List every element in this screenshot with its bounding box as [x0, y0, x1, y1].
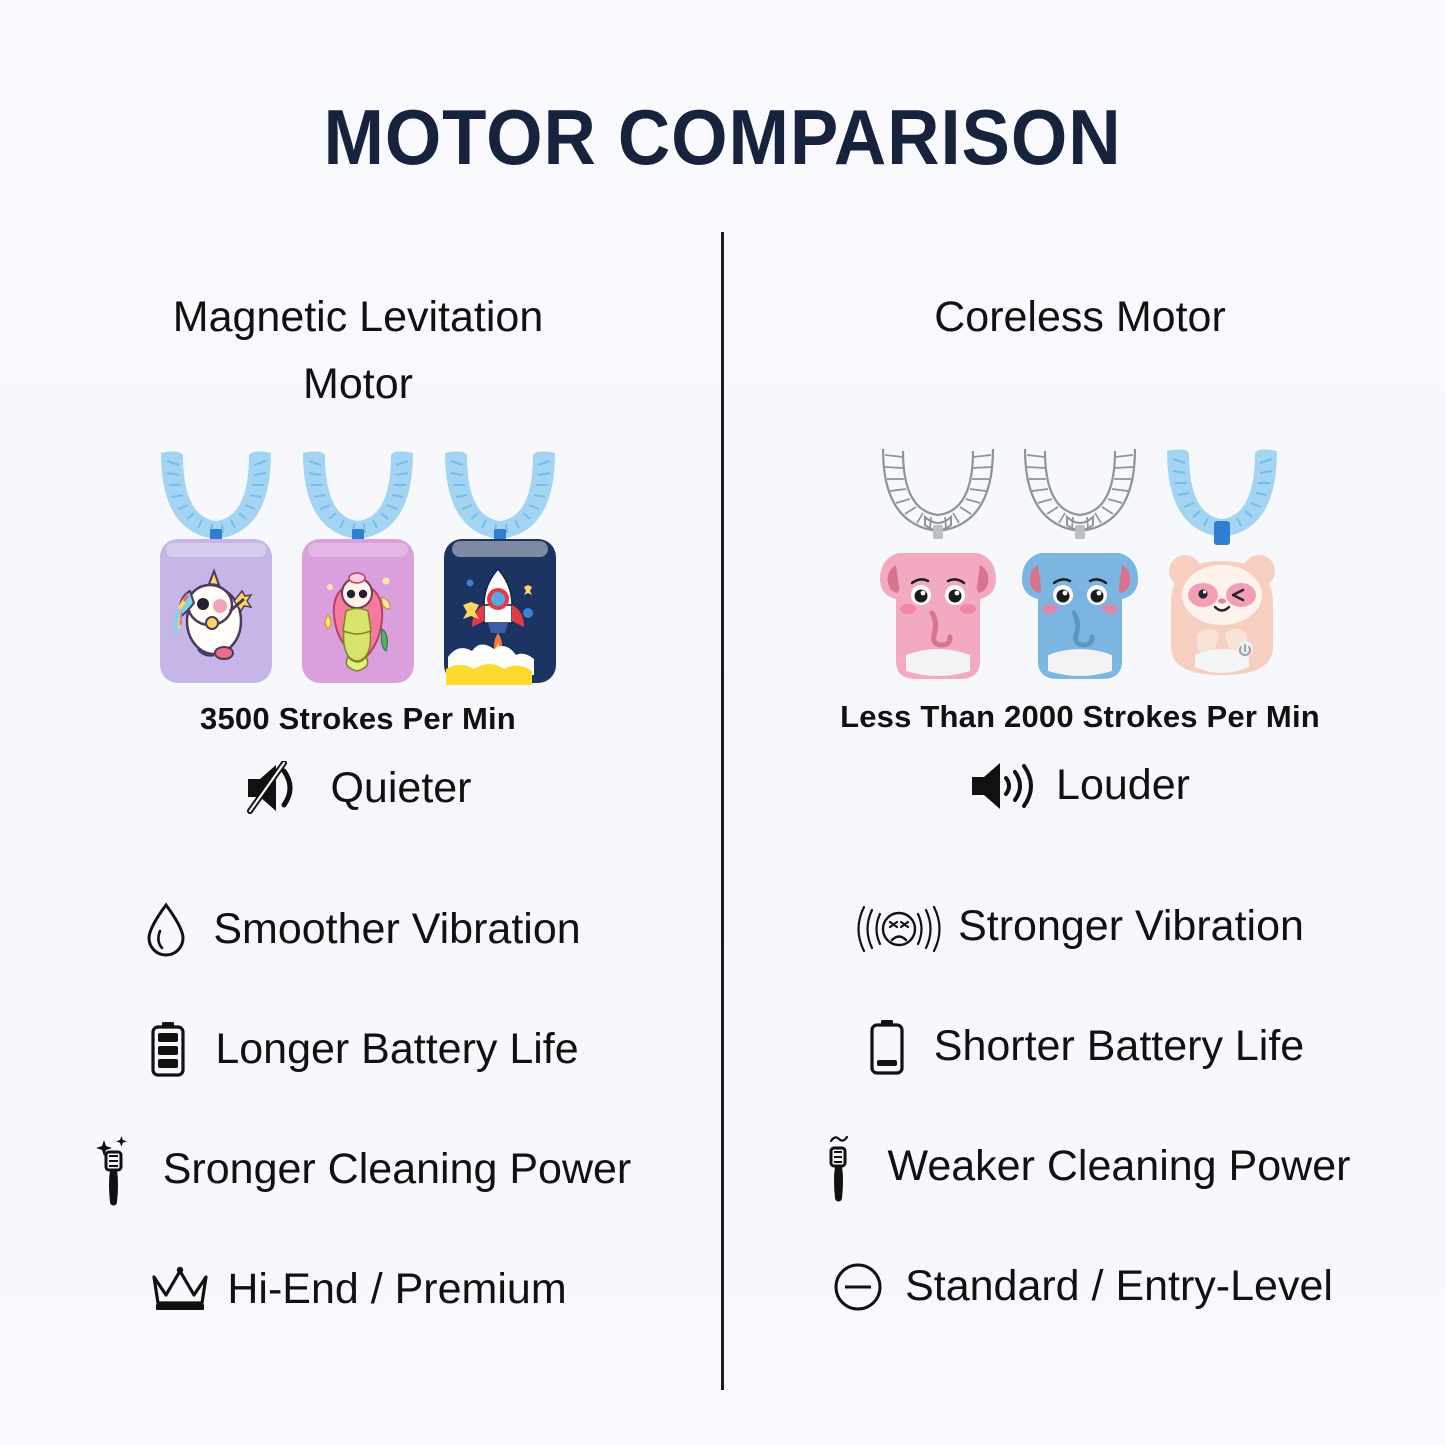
feature-label: Shorter Battery Life [934, 1022, 1304, 1071]
feature-label: Smoother Vibration [213, 905, 580, 954]
column-magnetic-levitation: Magnetic Levitation Motor [8, 284, 708, 1349]
u-brush-head-icon [437, 445, 563, 549]
feature-row-shorter-battery: Shorter Battery Life [730, 987, 1430, 1107]
feature-row-longer-battery: Longer Battery Life [8, 989, 708, 1109]
loudness-row-right: Louder [730, 759, 1430, 813]
product-row-left [8, 435, 708, 685]
strokes-per-min-right: Less Than 2000 Strokes Per Min [730, 699, 1430, 735]
column-divider [721, 232, 724, 1390]
feature-label: Hi-End / Premium [227, 1265, 566, 1314]
feature-row-stronger-vibration: Stronger Vibration [730, 867, 1430, 987]
u-body-shell [158, 537, 274, 685]
u-brush-head-wire-icon [873, 443, 1003, 541]
product-pink-elephant-toothbrush [874, 443, 1002, 683]
strokes-per-min-left: 3500 Strokes Per Min [8, 701, 708, 737]
loudness-label-left: Quieter [330, 764, 471, 813]
product-row-right [730, 433, 1430, 683]
feature-label: Weaker Cleaning Power [888, 1142, 1351, 1191]
u-body-shell [1018, 543, 1142, 683]
column-header-left: Magnetic Levitation Motor [8, 284, 708, 417]
feature-label: Stronger Vibration [958, 902, 1304, 951]
minus-circle-icon [827, 1261, 889, 1313]
crown-icon [149, 1265, 211, 1313]
product-pink-panda-toothbrush [1158, 443, 1286, 683]
water-drop-icon [135, 901, 197, 957]
feature-row-standard: Standard / Entry-Level [730, 1227, 1430, 1347]
product-unicorn-toothbrush [152, 445, 280, 685]
toothbrush-icon [810, 1130, 872, 1204]
u-body-shell [1163, 545, 1281, 683]
feature-row-stronger-cleaning: Sronger Cleaning Power [8, 1109, 708, 1229]
product-rocket-toothbrush [436, 445, 564, 685]
speaker-mute-icon [244, 761, 308, 815]
feature-label: Standard / Entry-Level [905, 1262, 1333, 1311]
toothbrush-sparkle-icon [85, 1132, 147, 1206]
battery-full-icon [137, 1020, 199, 1078]
u-brush-head-wire-icon [1015, 443, 1145, 541]
u-body-shell [442, 537, 558, 685]
column-coreless: Coreless Motor [730, 284, 1430, 1347]
feature-row-hi-end: Hi-End / Premium [8, 1229, 708, 1349]
product-blue-elephant-toothbrush [1016, 443, 1144, 683]
feature-list-left: Smoother Vibration Longer Battery Life [8, 869, 708, 1349]
feature-label: Sronger Cleaning Power [163, 1145, 632, 1194]
feature-label: Longer Battery Life [215, 1025, 578, 1074]
infographic-page: MOTOR COMPARISON Magnetic Levitation Mot… [0, 0, 1445, 1445]
u-body-shell [300, 537, 416, 685]
dizzy-face-vibration-icon [856, 899, 942, 955]
feature-row-weaker-cleaning: Weaker Cleaning Power [730, 1107, 1430, 1227]
column-header-right: Coreless Motor [730, 284, 1430, 351]
speaker-loud-icon [970, 759, 1034, 813]
u-body-shell [876, 543, 1000, 683]
page-title: MOTOR COMPARISON [51, 92, 1395, 183]
u-brush-head-icon [295, 445, 421, 549]
u-brush-head-icon [153, 445, 279, 549]
product-mermaid-toothbrush [294, 445, 422, 685]
loudness-label-right: Louder [1056, 761, 1190, 810]
battery-low-icon [856, 1018, 918, 1076]
feature-list-right: Stronger Vibration Shorter Battery Life [730, 867, 1430, 1347]
u-brush-head-icon [1159, 443, 1285, 547]
feature-row-smoother-vibration: Smoother Vibration [8, 869, 708, 989]
loudness-row-left: Quieter [8, 761, 708, 815]
